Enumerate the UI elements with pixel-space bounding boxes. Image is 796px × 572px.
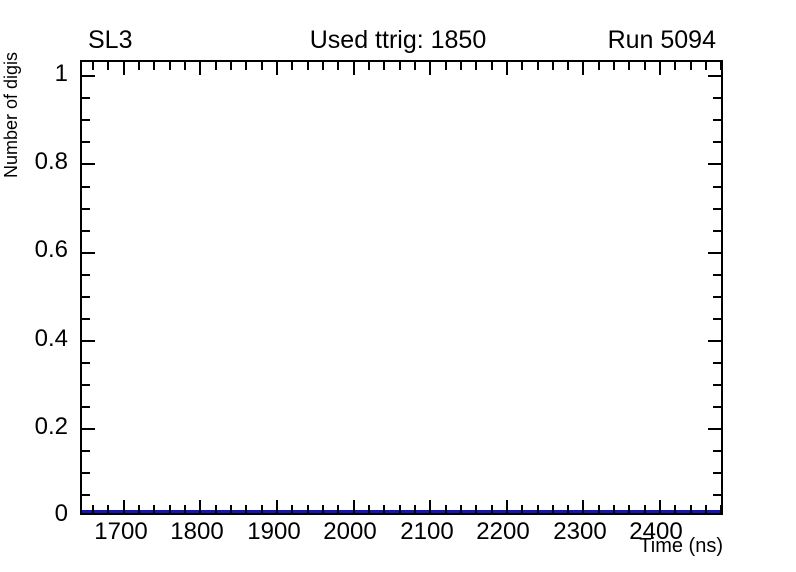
- x-minor-tick-top: [414, 62, 416, 70]
- y-minor-tick-right: [713, 406, 721, 408]
- x-minor-tick: [307, 505, 309, 513]
- y-minor-tick-right: [713, 230, 721, 232]
- x-minor-tick-top: [690, 62, 692, 70]
- x-minor-tick-top: [445, 62, 447, 70]
- x-minor-tick: [92, 505, 94, 513]
- x-minor-tick: [230, 505, 232, 513]
- x-minor-tick-top: [537, 62, 539, 70]
- x-major-tick-top: [123, 62, 125, 75]
- superlayer-label: SL3: [88, 28, 132, 53]
- y-tick-label: 0: [10, 502, 68, 526]
- run-number-label: Run 5094: [608, 28, 716, 53]
- plot-frame: [80, 60, 723, 515]
- x-minor-tick-top: [307, 62, 309, 70]
- x-major-tick: [659, 500, 661, 513]
- y-minor-tick: [82, 296, 90, 298]
- y-minor-tick-right: [713, 362, 721, 364]
- y-minor-tick: [82, 97, 90, 99]
- y-minor-tick: [82, 230, 90, 232]
- x-minor-tick: [644, 505, 646, 513]
- x-tick-label: 2100: [400, 520, 453, 544]
- x-minor-tick: [261, 505, 263, 513]
- x-minor-tick-top: [153, 62, 155, 70]
- x-minor-tick: [399, 505, 401, 513]
- x-major-tick: [582, 500, 584, 513]
- y-major-tick: [82, 428, 95, 430]
- y-minor-tick: [82, 119, 90, 121]
- x-minor-tick-top: [368, 62, 370, 70]
- x-minor-tick-top: [245, 62, 247, 70]
- y-minor-tick: [82, 141, 90, 143]
- x-minor-tick: [460, 505, 462, 513]
- x-minor-tick: [291, 505, 293, 513]
- x-minor-tick: [414, 505, 416, 513]
- x-minor-tick: [322, 505, 324, 513]
- x-minor-tick: [613, 505, 615, 513]
- y-minor-tick: [82, 208, 90, 210]
- x-minor-tick: [475, 505, 477, 513]
- x-minor-tick: [337, 505, 339, 513]
- y-minor-tick-right: [713, 186, 721, 188]
- x-tick-label: 1800: [170, 520, 223, 544]
- x-tick-label: 2400: [629, 520, 682, 544]
- x-major-tick: [429, 500, 431, 513]
- y-minor-tick-right: [713, 472, 721, 474]
- x-minor-tick-top: [475, 62, 477, 70]
- x-minor-tick: [537, 505, 539, 513]
- x-minor-tick-top: [337, 62, 339, 70]
- x-minor-tick: [215, 505, 217, 513]
- x-major-tick: [506, 500, 508, 513]
- x-minor-tick: [705, 505, 707, 513]
- x-minor-tick-top: [491, 62, 493, 70]
- y-minor-tick-right: [713, 97, 721, 99]
- y-tick-label: 0.8: [10, 150, 68, 174]
- y-major-tick-right: [708, 340, 721, 342]
- y-minor-tick: [82, 274, 90, 276]
- y-minor-tick: [82, 318, 90, 320]
- x-tick-label: 2300: [553, 520, 606, 544]
- x-major-tick: [199, 500, 201, 513]
- y-tick-label: 0.6: [10, 238, 68, 262]
- x-minor-tick-top: [644, 62, 646, 70]
- x-minor-tick: [169, 505, 171, 513]
- x-minor-tick-top: [567, 62, 569, 70]
- x-minor-tick: [552, 505, 554, 513]
- x-tick-label: 1700: [94, 520, 147, 544]
- x-minor-tick: [383, 505, 385, 513]
- x-minor-tick: [245, 505, 247, 513]
- y-minor-tick: [82, 186, 90, 188]
- y-minor-tick-right: [713, 296, 721, 298]
- x-minor-tick: [107, 505, 109, 513]
- y-minor-tick: [82, 362, 90, 364]
- y-minor-tick: [82, 450, 90, 452]
- x-minor-tick: [598, 505, 600, 513]
- x-minor-tick-top: [720, 62, 722, 70]
- x-minor-tick-top: [138, 62, 140, 70]
- y-tick-label: 0.4: [10, 327, 68, 351]
- x-minor-tick-top: [215, 62, 217, 70]
- x-minor-tick-top: [383, 62, 385, 70]
- y-major-tick-right: [708, 163, 721, 165]
- y-major-tick-right: [708, 75, 721, 77]
- x-minor-tick-top: [291, 62, 293, 70]
- x-minor-tick: [184, 505, 186, 513]
- y-tick-label: 1: [10, 62, 68, 86]
- y-major-tick: [82, 252, 95, 254]
- y-minor-tick: [82, 494, 90, 496]
- x-tick-label: 1900: [247, 520, 300, 544]
- x-minor-tick: [567, 505, 569, 513]
- x-minor-tick-top: [322, 62, 324, 70]
- x-minor-tick-top: [184, 62, 186, 70]
- x-minor-tick: [491, 505, 493, 513]
- x-minor-tick: [628, 505, 630, 513]
- y-minor-tick-right: [713, 119, 721, 121]
- y-minor-tick-right: [713, 450, 721, 452]
- x-major-tick-top: [659, 62, 661, 75]
- root-canvas: SL3 Used ttrig: 1850 Run 5094 Number of …: [0, 0, 796, 572]
- x-major-tick: [123, 500, 125, 513]
- x-minor-tick-top: [460, 62, 462, 70]
- x-major-tick-top: [506, 62, 508, 75]
- x-minor-tick-top: [705, 62, 707, 70]
- y-major-tick-right: [708, 252, 721, 254]
- y-minor-tick: [82, 384, 90, 386]
- x-minor-tick: [720, 505, 722, 513]
- y-minor-tick-right: [713, 318, 721, 320]
- y-minor-tick-right: [713, 494, 721, 496]
- histogram-line: [82, 510, 721, 513]
- y-minor-tick-right: [713, 208, 721, 210]
- x-minor-tick-top: [521, 62, 523, 70]
- x-minor-tick-top: [613, 62, 615, 70]
- x-minor-tick: [521, 505, 523, 513]
- x-minor-tick-top: [399, 62, 401, 70]
- y-minor-tick: [82, 472, 90, 474]
- y-minor-tick-right: [713, 141, 721, 143]
- x-minor-tick-top: [598, 62, 600, 70]
- y-major-tick-right: [708, 428, 721, 430]
- x-major-tick-top: [199, 62, 201, 75]
- x-minor-tick: [368, 505, 370, 513]
- x-tick-label: 2000: [323, 520, 376, 544]
- x-minor-tick: [153, 505, 155, 513]
- x-major-tick: [276, 500, 278, 513]
- x-minor-tick-top: [169, 62, 171, 70]
- x-minor-tick: [138, 505, 140, 513]
- x-minor-tick-top: [92, 62, 94, 70]
- x-minor-tick-top: [261, 62, 263, 70]
- x-tick-label: 2200: [476, 520, 529, 544]
- y-minor-tick-right: [713, 384, 721, 386]
- x-major-tick-top: [276, 62, 278, 75]
- x-major-tick-top: [429, 62, 431, 75]
- y-major-tick: [82, 75, 95, 77]
- x-minor-tick: [674, 505, 676, 513]
- y-minor-tick-right: [713, 274, 721, 276]
- y-tick-label: 0.2: [10, 415, 68, 439]
- x-minor-tick-top: [230, 62, 232, 70]
- x-major-tick: [353, 500, 355, 513]
- x-minor-tick-top: [674, 62, 676, 70]
- y-major-tick: [82, 163, 95, 165]
- y-minor-tick: [82, 406, 90, 408]
- x-minor-tick-top: [552, 62, 554, 70]
- x-minor-tick-top: [628, 62, 630, 70]
- x-minor-tick: [690, 505, 692, 513]
- x-major-tick-top: [582, 62, 584, 75]
- page-title: Used ttrig: 1850: [310, 28, 487, 53]
- x-major-tick-top: [353, 62, 355, 75]
- x-minor-tick-top: [107, 62, 109, 70]
- y-major-tick: [82, 340, 95, 342]
- x-minor-tick: [445, 505, 447, 513]
